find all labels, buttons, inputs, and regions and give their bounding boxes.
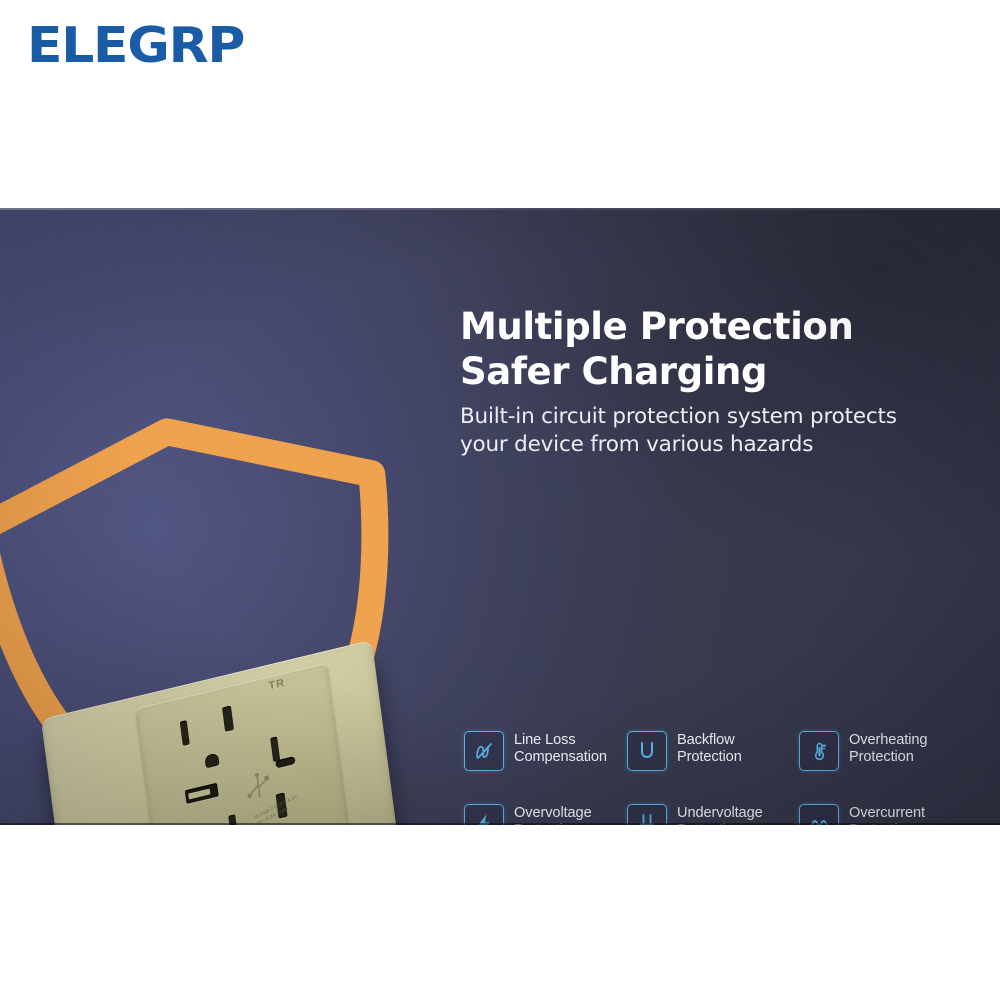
subheadline-line-2: your device from various hazards: [460, 431, 960, 459]
receptacle-body: TR TR: [136, 663, 351, 825]
feature-line-loss-compensation: Line Loss Compensation: [464, 730, 627, 771]
hero-banner: TR TR: [0, 208, 1000, 825]
feature-label-line-2: Compensation: [514, 749, 607, 766]
subheadline: Built-in circuit protection system prote…: [460, 403, 960, 458]
headline-line-1: Multiple Protection: [460, 304, 960, 349]
outlet-slot-hot-top: [180, 720, 190, 746]
feature-label-line-1: Overvoltage: [514, 805, 592, 822]
feature-label: Overcurrent Protection: [849, 803, 925, 825]
feature-label-line-1: Overcurrent: [849, 805, 925, 822]
tr-mark-top: TR: [268, 677, 286, 692]
feature-undervoltage-protection: Undervoltage Protection: [627, 803, 799, 825]
headline-line-2: Safer Charging: [460, 349, 960, 394]
usb-a-port: [185, 783, 219, 804]
feature-label: Overheating Protection: [849, 730, 927, 766]
hero-bottom-edge: [0, 823, 1000, 825]
wall-plate: TR TR: [41, 640, 399, 825]
outlet-slot-hot-right: [270, 736, 280, 762]
product-image-outlet: TR TR: [38, 660, 458, 825]
feature-label: Line Loss Compensation: [514, 730, 607, 766]
feature-grid: Line Loss Compensation Backflow Protecti…: [464, 730, 976, 825]
outlet-slot-neutral-top: [222, 706, 234, 732]
overheating-icon: [799, 731, 839, 771]
feature-overheating-protection: Overheating Protection: [799, 730, 969, 771]
usb-logo-icon: [237, 767, 280, 805]
overvoltage-icon: [464, 804, 504, 825]
outlet-slot-ground-top: [204, 753, 219, 769]
feature-label: Undervoltage Protection: [677, 803, 763, 825]
feature-label-line-1: Line Loss: [514, 732, 607, 749]
feature-label-line-1: Undervoltage: [677, 805, 763, 822]
feature-label-line-1: Backflow: [677, 732, 742, 749]
overcurrent-icon: [799, 804, 839, 825]
line-loss-icon: [464, 731, 504, 771]
brand-logo: ELEGRP: [27, 21, 244, 70]
subheadline-line-1: Built-in circuit protection system prote…: [460, 403, 960, 431]
feature-backflow-protection: Backflow Protection: [627, 730, 799, 771]
feature-label: Overvoltage Protection: [514, 803, 592, 825]
product-marketing-image: ELEGRP TR TR: [0, 0, 1000, 1000]
feature-label-line-2: Protection: [849, 749, 927, 766]
undervoltage-icon: [627, 804, 667, 825]
backflow-icon: [627, 731, 667, 771]
feature-label: Backflow Protection: [677, 730, 742, 766]
logo-band: ELEGRP: [0, 0, 1000, 208]
hero-copy: Multiple Protection Safer Charging Built…: [460, 304, 960, 458]
feature-overvoltage-protection: Overvoltage Protection: [464, 803, 627, 825]
feature-label-line-2: Protection: [677, 749, 742, 766]
plate-face: TR TR: [41, 640, 399, 825]
feature-label-line-1: Overheating: [849, 732, 927, 749]
feature-overcurrent-protection: Overcurrent Protection: [799, 803, 969, 825]
